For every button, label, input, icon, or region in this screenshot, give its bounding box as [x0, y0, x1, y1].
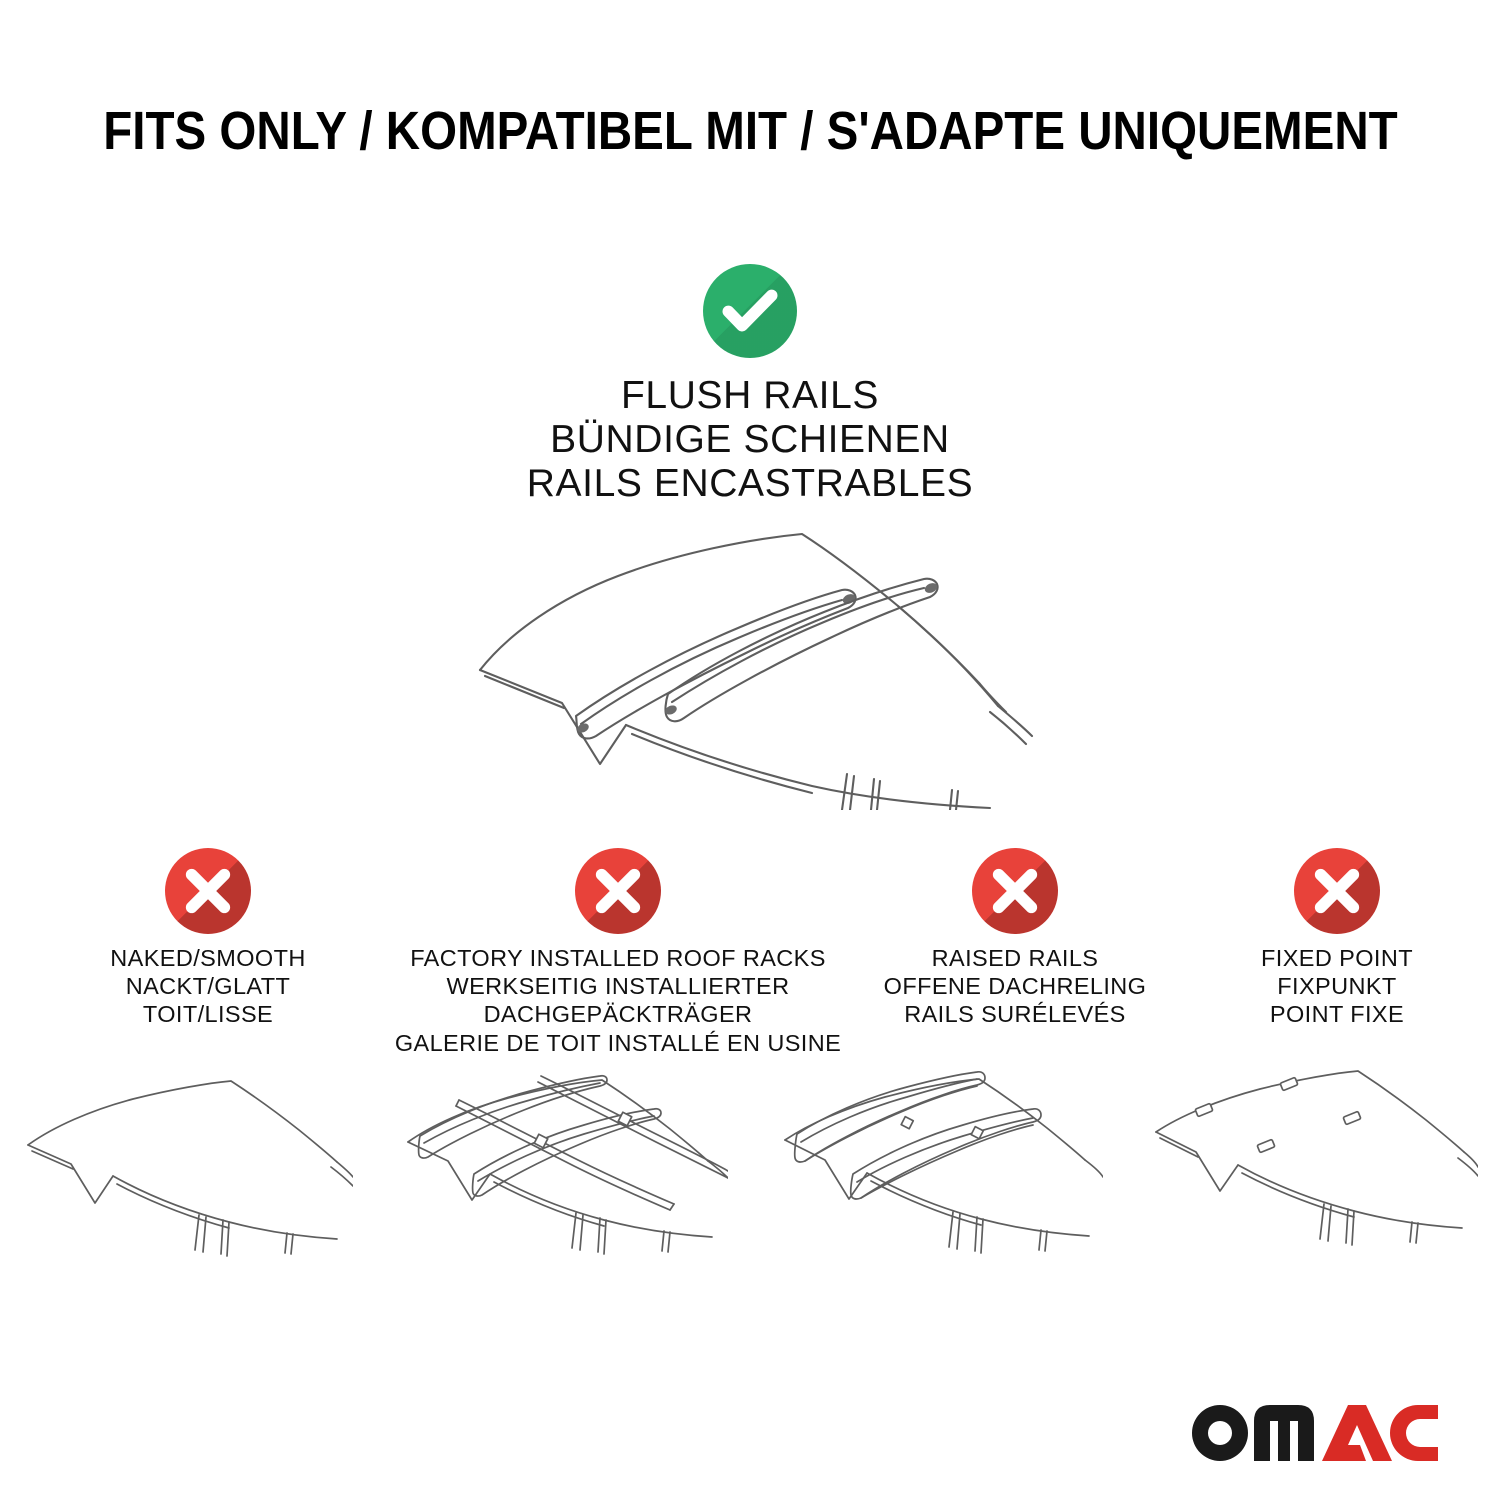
option-caption-line-4: GALERIE DE TOIT INSTALLÉ EN USINE: [395, 1029, 841, 1057]
x-circle-icon: [1294, 848, 1380, 934]
option-naked-smooth: NAKED/SMOOTH NACKT/GLATT TOIT/LISSE: [18, 848, 398, 1029]
x-circle-icon: [165, 848, 251, 934]
omac-logo: [1190, 1404, 1440, 1462]
option-caption-line-1: FACTORY INSTALLED ROOF RACKS: [395, 944, 841, 972]
car-roof-factory-installed-roof-racks-illustration: [398, 1070, 728, 1285]
compatible-section: FLUSH RAILS BÜNDIGE SCHIENEN RAILS ENCAS…: [0, 264, 1500, 815]
compatible-caption-line-1: FLUSH RAILS: [0, 374, 1500, 418]
incompatible-illustrations-row: [0, 1058, 1500, 1285]
option-caption-line-3: RAILS SURÉLEVÉS: [884, 1000, 1147, 1028]
option-caption-line-3: TOIT/LISSE: [110, 1000, 305, 1028]
option-fixed-point: FIXED POINT FIXPUNKT POINT FIXE: [1187, 848, 1487, 1029]
option-caption-line-1: RAISED RAILS: [884, 944, 1147, 972]
option-factory-roof-racks: FACTORY INSTALLED ROOF RACKS WERKSEITIG …: [393, 848, 843, 1057]
option-raised-rails: RAISED RAILS OFFENE DACHRELING RAILS SUR…: [845, 848, 1185, 1029]
incompatible-options-row: NAKED/SMOOTH NACKT/GLATT TOIT/LISSE FACT…: [0, 848, 1500, 1057]
option-caption: FIXED POINT FIXPUNKT POINT FIXE: [1261, 944, 1413, 1029]
option-caption-line-2: NACKT/GLATT: [110, 972, 305, 1000]
option-caption-line-1: NAKED/SMOOTH: [110, 944, 305, 972]
option-caption: RAISED RAILS OFFENE DACHRELING RAILS SUR…: [884, 944, 1147, 1029]
option-caption: FACTORY INSTALLED ROOF RACKS WERKSEITIG …: [395, 944, 841, 1057]
option-caption: NAKED/SMOOTH NACKT/GLATT TOIT/LISSE: [110, 944, 305, 1029]
compatible-caption: FLUSH RAILS BÜNDIGE SCHIENEN RAILS ENCAS…: [0, 374, 1500, 506]
illustration-slot: [1125, 1058, 1500, 1285]
option-caption-line-2: OFFENE DACHRELING: [884, 972, 1147, 1000]
option-caption-line-1: FIXED POINT: [1261, 944, 1413, 972]
header: FITS ONLY / KOMPATIBEL MIT / S'ADAPTE UN…: [0, 104, 1500, 158]
compatible-caption-line-3: RAILS ENCASTRABLES: [0, 462, 1500, 506]
car-roof-with-flush-rails-illustration: [450, 520, 1050, 810]
car-roof-fixed-point-illustration: [1148, 1070, 1478, 1285]
car-roof-raised-rails-illustration: [773, 1070, 1103, 1285]
illustration-slot: [0, 1058, 375, 1285]
compatible-caption-line-2: BÜNDIGE SCHIENEN: [0, 418, 1500, 462]
check-circle-icon: [703, 264, 797, 358]
illustration-slot: [375, 1058, 750, 1285]
option-caption-line-3: DACHGEPÄCKTRÄGER: [395, 1000, 841, 1028]
illustration-slot: [750, 1058, 1125, 1285]
car-roof-naked-smooth-illustration: [23, 1070, 353, 1285]
option-caption-line-3: POINT FIXE: [1261, 1000, 1413, 1028]
omac-logo-mark: [1190, 1403, 1440, 1463]
x-circle-icon: [972, 848, 1058, 934]
page-title: FITS ONLY / KOMPATIBEL MIT / S'ADAPTE UN…: [103, 104, 1397, 158]
option-caption-line-2: FIXPUNKT: [1261, 972, 1413, 1000]
x-circle-icon: [575, 848, 661, 934]
option-caption-line-2: WERKSEITIG INSTALLIERTER: [395, 972, 841, 1000]
